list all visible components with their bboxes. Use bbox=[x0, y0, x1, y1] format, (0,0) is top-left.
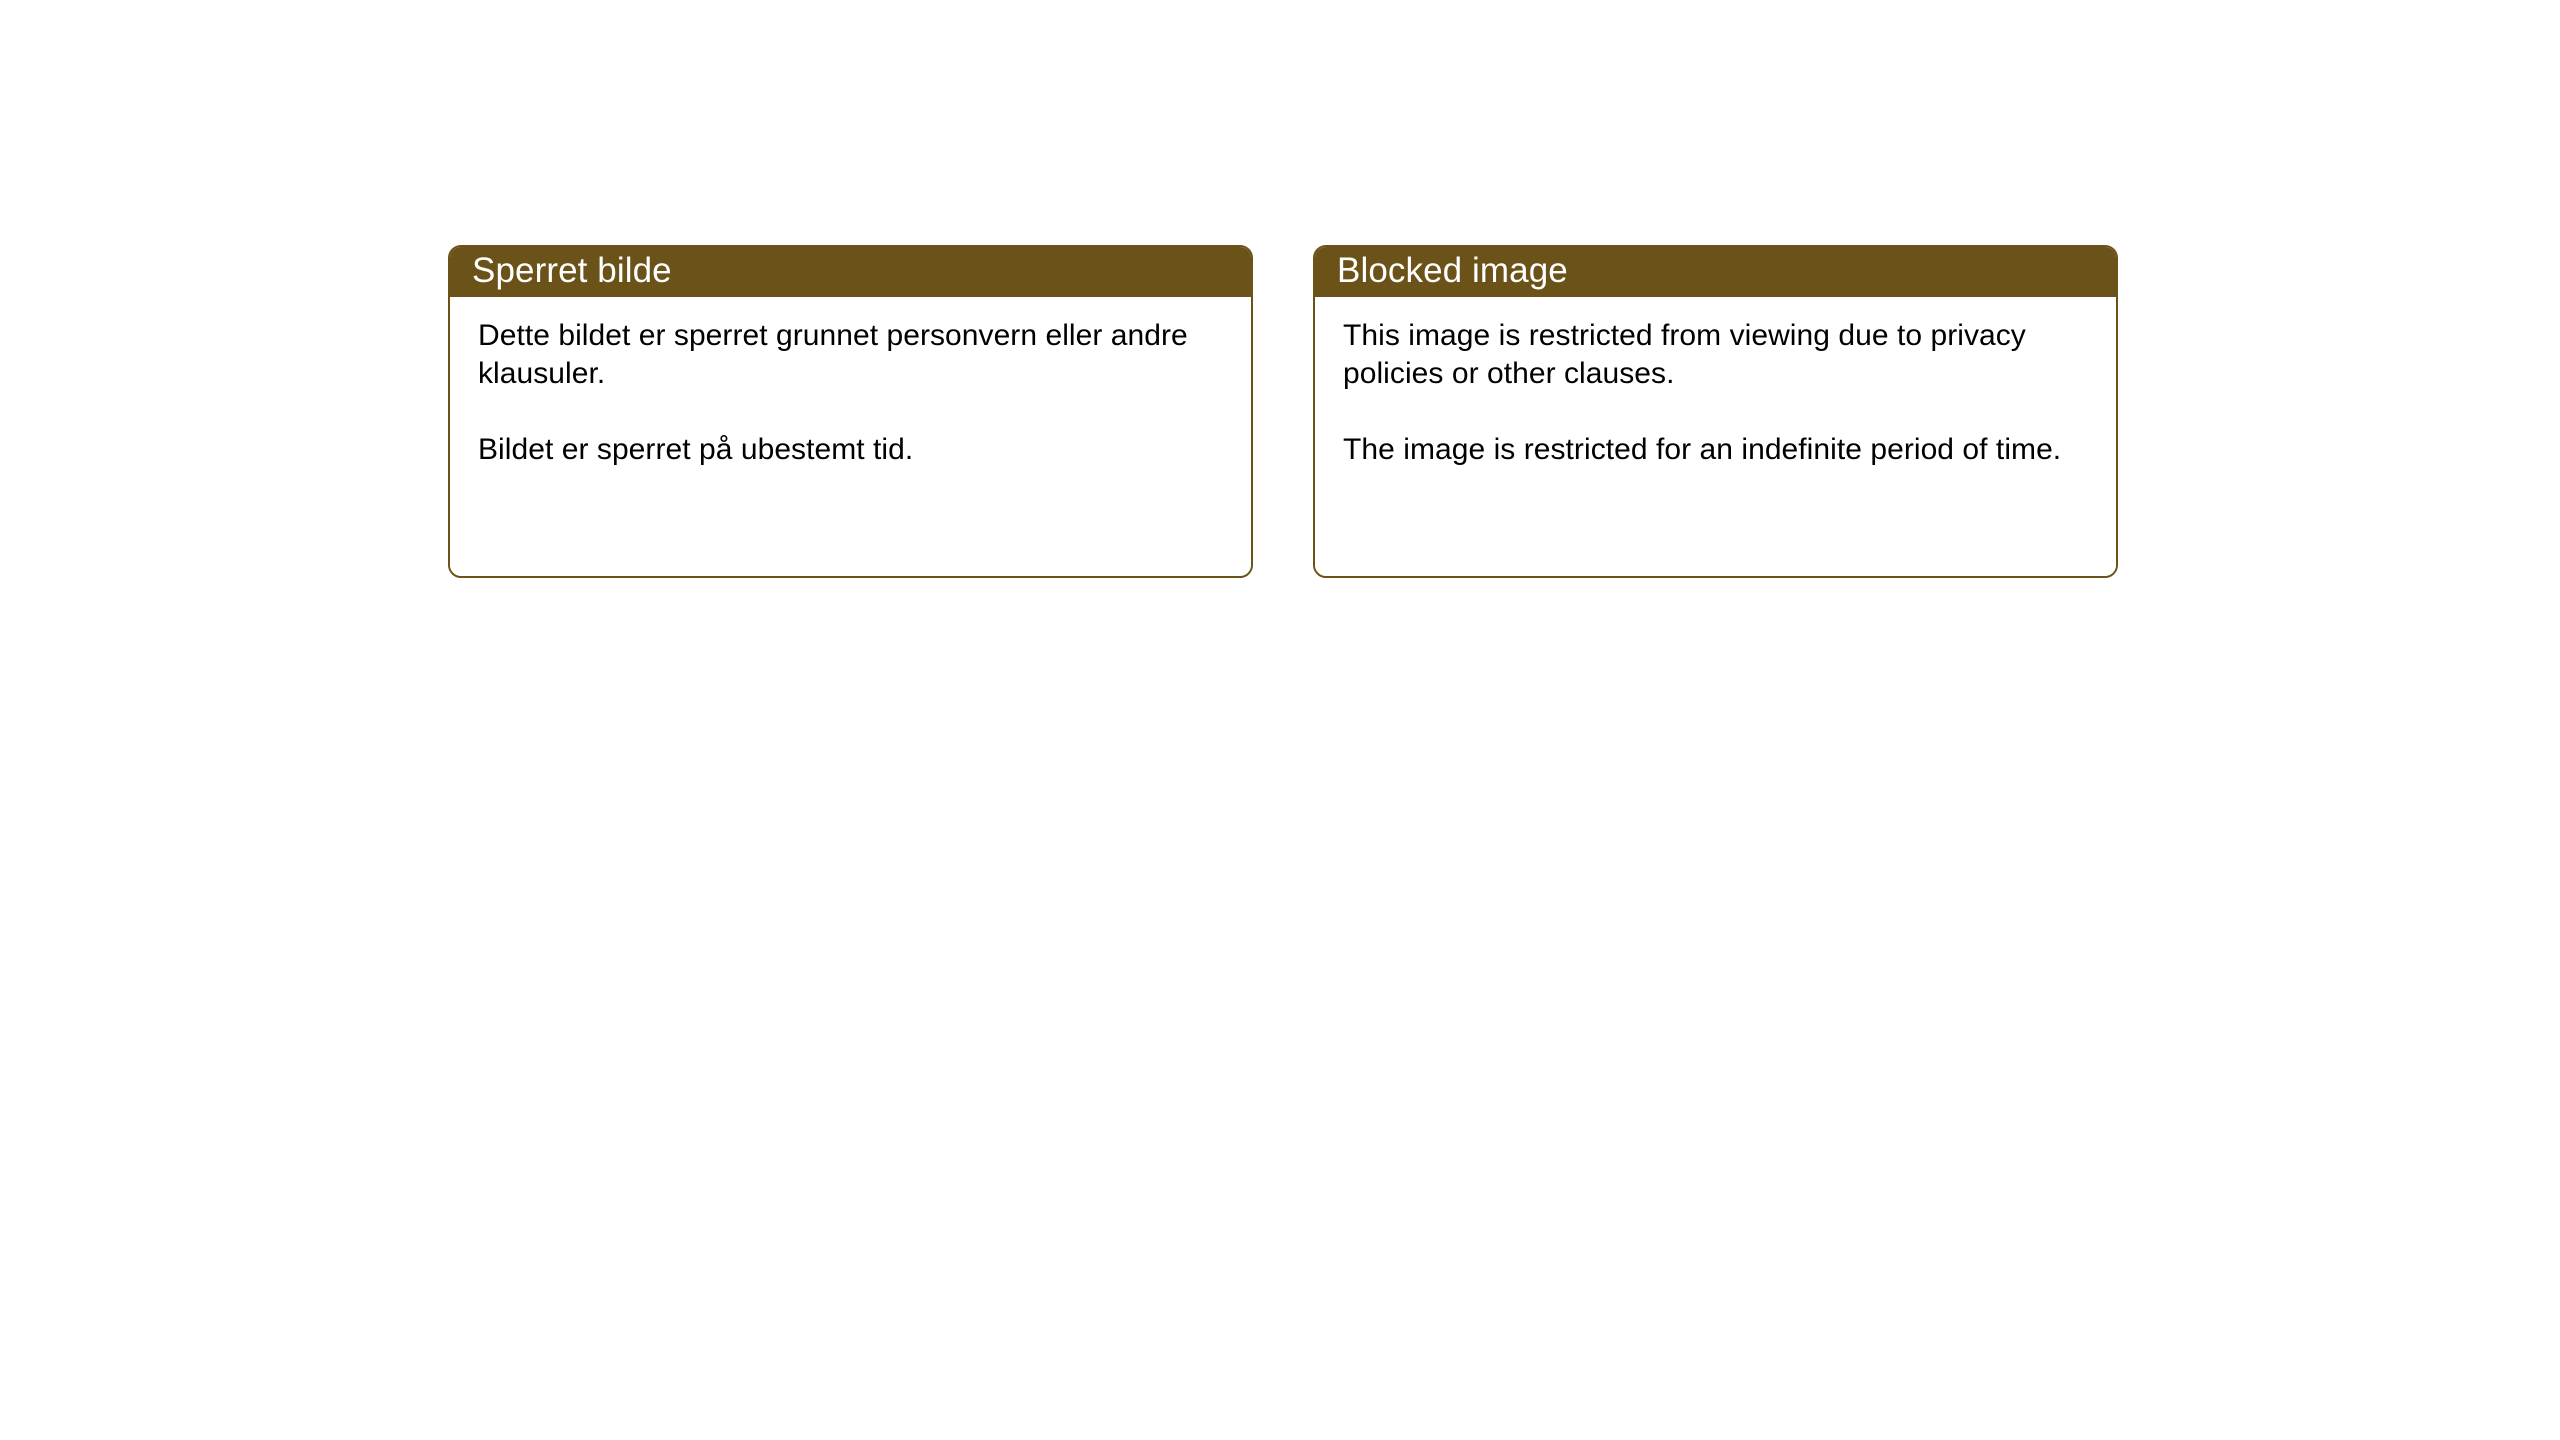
card-header-english: Blocked image bbox=[1313, 245, 2118, 297]
card-paragraph-secondary-english: The image is restricted for an indefinit… bbox=[1343, 431, 2090, 469]
card-body-norwegian: Dette bildet er sperret grunnet personve… bbox=[450, 297, 1251, 576]
notice-cards-row: Sperret bilde Dette bildet er sperret gr… bbox=[448, 245, 2118, 578]
page-canvas: Sperret bilde Dette bildet er sperret gr… bbox=[0, 0, 2560, 1440]
card-paragraph-primary-norwegian: Dette bildet er sperret grunnet personve… bbox=[478, 317, 1225, 393]
blocked-image-notice-card-english: Blocked image This image is restricted f… bbox=[1313, 245, 2118, 578]
card-title-norwegian: Sperret bilde bbox=[472, 252, 672, 290]
blocked-image-notice-card-norwegian: Sperret bilde Dette bildet er sperret gr… bbox=[448, 245, 1253, 578]
paragraph-spacer bbox=[478, 393, 1225, 431]
card-body-english: This image is restricted from viewing du… bbox=[1315, 297, 2116, 576]
card-paragraph-primary-english: This image is restricted from viewing du… bbox=[1343, 317, 2090, 393]
card-header-norwegian: Sperret bilde bbox=[448, 245, 1253, 297]
card-title-english: Blocked image bbox=[1337, 252, 1568, 290]
paragraph-spacer bbox=[1343, 393, 2090, 431]
card-paragraph-secondary-norwegian: Bildet er sperret på ubestemt tid. bbox=[478, 431, 1225, 469]
